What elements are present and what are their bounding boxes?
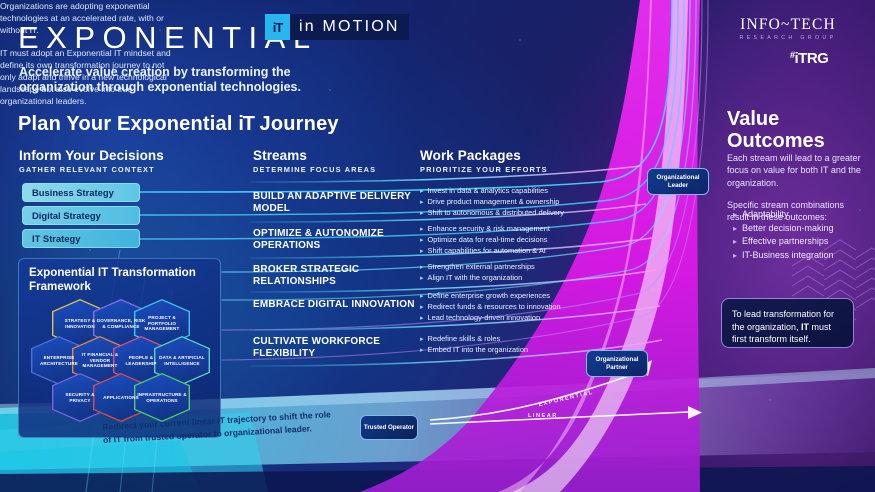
work-package-item: Lead technology-driven innovation bbox=[420, 313, 630, 324]
stream-embrace-digital-innovation[interactable]: EMBRACE DIGITAL INNOVATION bbox=[253, 299, 418, 311]
work-package-item: Enhance security & risk management bbox=[420, 224, 630, 235]
work-package-item: Redirect funds & resources to innovation bbox=[420, 302, 630, 313]
outcome-item-effective-partnerships: Effective partnerships bbox=[733, 235, 873, 249]
plan-title-it-glyph: iT bbox=[238, 113, 253, 136]
pill-label: Business Strategy bbox=[32, 187, 114, 198]
itrg-logo: #iTRG bbox=[790, 50, 828, 67]
badge-organizational-partner[interactable]: Organizational Partner bbox=[586, 350, 648, 377]
pill-label: Digital Strategy bbox=[32, 210, 101, 221]
stream-cultivate-workforce-flexibility[interactable]: CULTIVATE WORKFORCE FLEXIBILITY bbox=[253, 336, 418, 359]
it-in-motion-badge: iT in MOTION bbox=[265, 14, 409, 40]
company-logo: INFO~TECH RESEARCH GROUP bbox=[713, 16, 863, 41]
badge-trusted-operator[interactable]: Trusted Operator bbox=[360, 415, 418, 440]
exponential-it-framework-panel: Exponential IT Transformation Framework … bbox=[18, 258, 221, 438]
work-packages-group-1: Invest in data & analytics capabilities … bbox=[420, 186, 630, 220]
packages-title: Work Packages bbox=[420, 148, 548, 163]
badge-label: Organizational Partner bbox=[587, 356, 647, 371]
stream-build-adaptive-delivery-model[interactable]: BUILD AN ADAPTIVE DELIVERY MODEL bbox=[253, 191, 418, 214]
decisions-subtitle: GATHER RELEVANT CONTEXT bbox=[19, 165, 164, 174]
column-header-packages: Work Packages PRIORITIZE YOUR EFFORTS bbox=[420, 148, 548, 174]
decision-pill-digital-strategy[interactable]: Digital Strategy bbox=[22, 206, 140, 225]
infographic-canvas: EXPONENTIAL iT in MOTION Accelerate valu… bbox=[0, 0, 875, 492]
page-subtitle: Accelerate value creation by transformin… bbox=[19, 65, 319, 95]
hex-label: INFRASTRUCTURE & OPERATIONS bbox=[134, 392, 190, 403]
it-logo-icon: iT bbox=[265, 14, 290, 40]
work-package-item: Redefine skills & roles bbox=[420, 334, 630, 345]
work-package-item: Define enterprise growth experiences bbox=[420, 291, 630, 302]
itrg-label: iTRG bbox=[795, 50, 829, 67]
callout-text-bold: IT bbox=[801, 322, 809, 332]
work-package-item: Align IT with the organization bbox=[420, 273, 630, 284]
packages-subtitle: PRIORITIZE YOUR EFFORTS bbox=[420, 165, 548, 174]
logo-name: INFO~TECH bbox=[713, 16, 863, 34]
work-package-item: Shift capabilities for automation & AI bbox=[420, 246, 630, 257]
value-outcomes-title-line1: Value bbox=[727, 108, 825, 130]
work-package-item: Invest in data & analytics capabilities bbox=[420, 186, 630, 197]
column-header-decisions: Inform Your Decisions GATHER RELEVANT CO… bbox=[19, 148, 164, 174]
work-packages-group-4: Define enterprise growth experiences Red… bbox=[420, 291, 630, 325]
work-packages-group-2: Enhance security & risk management Optim… bbox=[420, 224, 630, 258]
value-outcomes-list: Adaptability Better decision-making Effe… bbox=[733, 208, 873, 262]
value-outcomes-title: Value Outcomes bbox=[727, 108, 825, 152]
stream-optimize-autonomize-operations[interactable]: OPTIMIZE & AUTONOMIZE OPERATIONS bbox=[253, 228, 418, 251]
hex-infrastructure-operations[interactable]: INFRASTRUCTURE & OPERATIONS bbox=[134, 373, 190, 422]
streams-title: Streams bbox=[253, 148, 376, 163]
framework-title: Exponential IT Transformation Framework bbox=[29, 266, 214, 293]
value-outcomes-title-line2: Outcomes bbox=[727, 130, 825, 152]
logo-tagline: RESEARCH GROUP bbox=[713, 35, 863, 41]
work-package-item: Shift to autonomous & distributed delive… bbox=[420, 208, 630, 219]
lead-transformation-callout: To lead transformation for the organizat… bbox=[721, 298, 854, 348]
decision-pill-business-strategy[interactable]: Business Strategy bbox=[22, 183, 140, 202]
outcome-item-adaptability: Adaptability bbox=[733, 208, 873, 222]
plan-title-post: Journey bbox=[254, 113, 339, 135]
pill-label: IT Strategy bbox=[32, 233, 80, 244]
hex-label: DATA & ARTIFICIAL INTELLIGENCE bbox=[154, 355, 210, 366]
outcome-item-better-decision-making: Better decision-making bbox=[733, 222, 873, 236]
plan-title-pre: Plan Your Exponential bbox=[18, 113, 238, 135]
outcome-item-it-business-integration: IT-Business integration bbox=[733, 249, 873, 263]
hex-label: PROJECT & PORTFOLIO MANAGEMENT bbox=[134, 315, 190, 332]
badge-label: Organizational Leader bbox=[648, 174, 708, 189]
value-outcomes-paragraph-1: Each stream will lead to a greater focus… bbox=[727, 152, 867, 189]
work-packages-group-3: Strengthen external partnerships Align I… bbox=[420, 262, 630, 284]
column-header-streams: Streams DETERMINE FOCUS AREAS bbox=[253, 148, 376, 174]
plan-journey-title: Plan Your Exponential iT Journey bbox=[18, 113, 339, 136]
work-package-item: Drive product management & ownership bbox=[420, 197, 630, 208]
badge-organizational-leader[interactable]: Organizational Leader bbox=[647, 168, 709, 195]
in-motion-label: in MOTION bbox=[299, 18, 400, 36]
work-package-item: Strengthen external partnerships bbox=[420, 262, 630, 273]
decision-pill-it-strategy[interactable]: IT Strategy bbox=[22, 229, 140, 248]
streams-subtitle: DETERMINE FOCUS AREAS bbox=[253, 165, 376, 174]
linear-curve-label: LINEAR bbox=[528, 413, 558, 419]
decisions-title: Inform Your Decisions bbox=[19, 148, 164, 163]
work-package-item: Optimize data for real-time decisions bbox=[420, 235, 630, 246]
stream-broker-strategic-relationships[interactable]: BROKER STRATEGIC RELATIONSHIPS bbox=[253, 264, 418, 287]
badge-label: Trusted Operator bbox=[364, 424, 414, 431]
